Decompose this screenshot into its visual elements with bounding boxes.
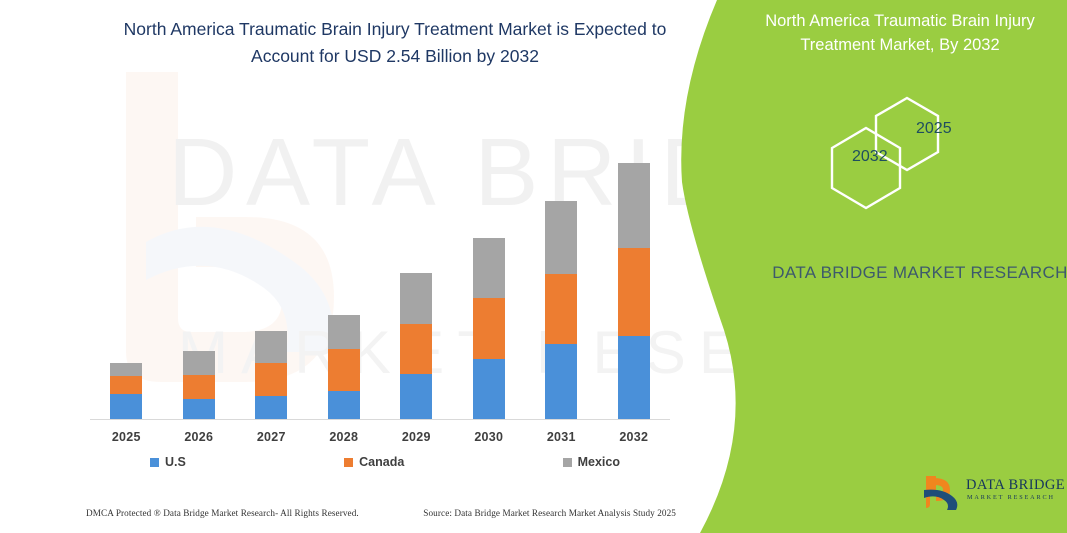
hexagon-group: 2032 2025 (820, 90, 990, 210)
legend-item-Mexico[interactable]: Mexico (563, 455, 620, 469)
bar-segment-US-2032 (618, 336, 650, 419)
chart-legend: U.SCanadaMexico (150, 455, 620, 469)
hexagon-label-2032: 2032 (852, 148, 888, 166)
bar-group-2025 (110, 363, 142, 419)
brand-logo-name: DATA BRIDGE (966, 477, 1065, 494)
brand-logo: DATA BRIDGE MARKET RESEARCH (920, 474, 1050, 516)
legend-label: Canada (359, 455, 404, 469)
bar-segment-Mexico-2031 (545, 201, 577, 274)
bar-segment-Canada-2032 (618, 248, 650, 336)
bar-segment-US-2030 (473, 359, 505, 419)
hexagon-2032-shape (832, 128, 900, 208)
bar-group-2028 (328, 315, 360, 419)
hexagon-label-2025: 2025 (916, 120, 952, 138)
bar-segment-US-2028 (328, 391, 360, 419)
bar-segment-Mexico-2030 (473, 238, 505, 298)
legend-swatch-icon (150, 458, 159, 467)
footer-source: Source: Data Bridge Market Research Mark… (423, 508, 676, 518)
x-axis-tick-2031: 2031 (531, 430, 591, 444)
bar-group-2032 (618, 163, 650, 419)
bar-segment-Canada-2031 (545, 274, 577, 344)
legend-swatch-icon (344, 458, 353, 467)
bar-segment-Canada-2029 (400, 324, 432, 374)
panel-title: North America Traumatic Brain Injury Tre… (740, 10, 1060, 58)
bar-segment-Mexico-2032 (618, 163, 650, 248)
bar-segment-US-2029 (400, 374, 432, 419)
bar-group-2029 (400, 273, 432, 419)
footer-copyright: DMCA Protected ® Data Bridge Market Rese… (86, 508, 359, 518)
bar-group-2031 (545, 201, 577, 419)
bar-segment-Canada-2027 (255, 363, 287, 396)
x-axis-tick-2030: 2030 (459, 430, 519, 444)
x-axis-tick-2025: 2025 (96, 430, 156, 444)
x-axis-tick-2026: 2026 (169, 430, 229, 444)
page-title: North America Traumatic Brain Injury Tre… (120, 16, 670, 69)
bar-segment-Canada-2028 (328, 349, 360, 391)
bar-segment-Mexico-2027 (255, 331, 287, 363)
legend-item-Canada[interactable]: Canada (344, 455, 404, 469)
footer: DMCA Protected ® Data Bridge Market Rese… (86, 508, 676, 518)
legend-swatch-icon (563, 458, 572, 467)
x-axis-tick-2032: 2032 (604, 430, 664, 444)
panel-brand-text: DATA BRIDGE MARKET RESEARCH (760, 260, 1067, 286)
bar-segment-Mexico-2028 (328, 315, 360, 349)
bar-group-2027 (255, 331, 287, 419)
bar-group-2030 (473, 238, 505, 419)
bar-segment-US-2025 (110, 394, 142, 419)
bar-segment-Mexico-2026 (183, 351, 215, 375)
bar-segment-US-2031 (545, 344, 577, 419)
bar-segment-Canada-2030 (473, 298, 505, 359)
x-axis-tick-2028: 2028 (314, 430, 374, 444)
x-axis-tick-2027: 2027 (241, 430, 301, 444)
x-axis-labels: 20252026202720282029203020312032 (90, 430, 670, 444)
brand-logo-subtitle: MARKET RESEARCH (967, 494, 1055, 501)
bar-segment-Mexico-2029 (400, 273, 432, 324)
bar-segment-US-2027 (255, 396, 287, 419)
legend-label: U.S (165, 455, 186, 469)
hexagon-outlines-icon (820, 90, 990, 210)
bar-group-2026 (183, 351, 215, 419)
bar-segment-Mexico-2025 (110, 363, 142, 376)
brand-mark-icon (920, 474, 964, 514)
infographic-canvas: DATA BRIDGE MARKET RESEARCH North Americ… (0, 0, 1067, 533)
bar-segment-Canada-2025 (110, 376, 142, 394)
stacked-bar-plot (90, 147, 670, 420)
x-axis-tick-2029: 2029 (386, 430, 446, 444)
bar-segment-US-2026 (183, 399, 215, 419)
bar-segment-Canada-2026 (183, 375, 215, 399)
legend-label: Mexico (578, 455, 620, 469)
chart-area (90, 140, 670, 420)
legend-item-US[interactable]: U.S (150, 455, 186, 469)
